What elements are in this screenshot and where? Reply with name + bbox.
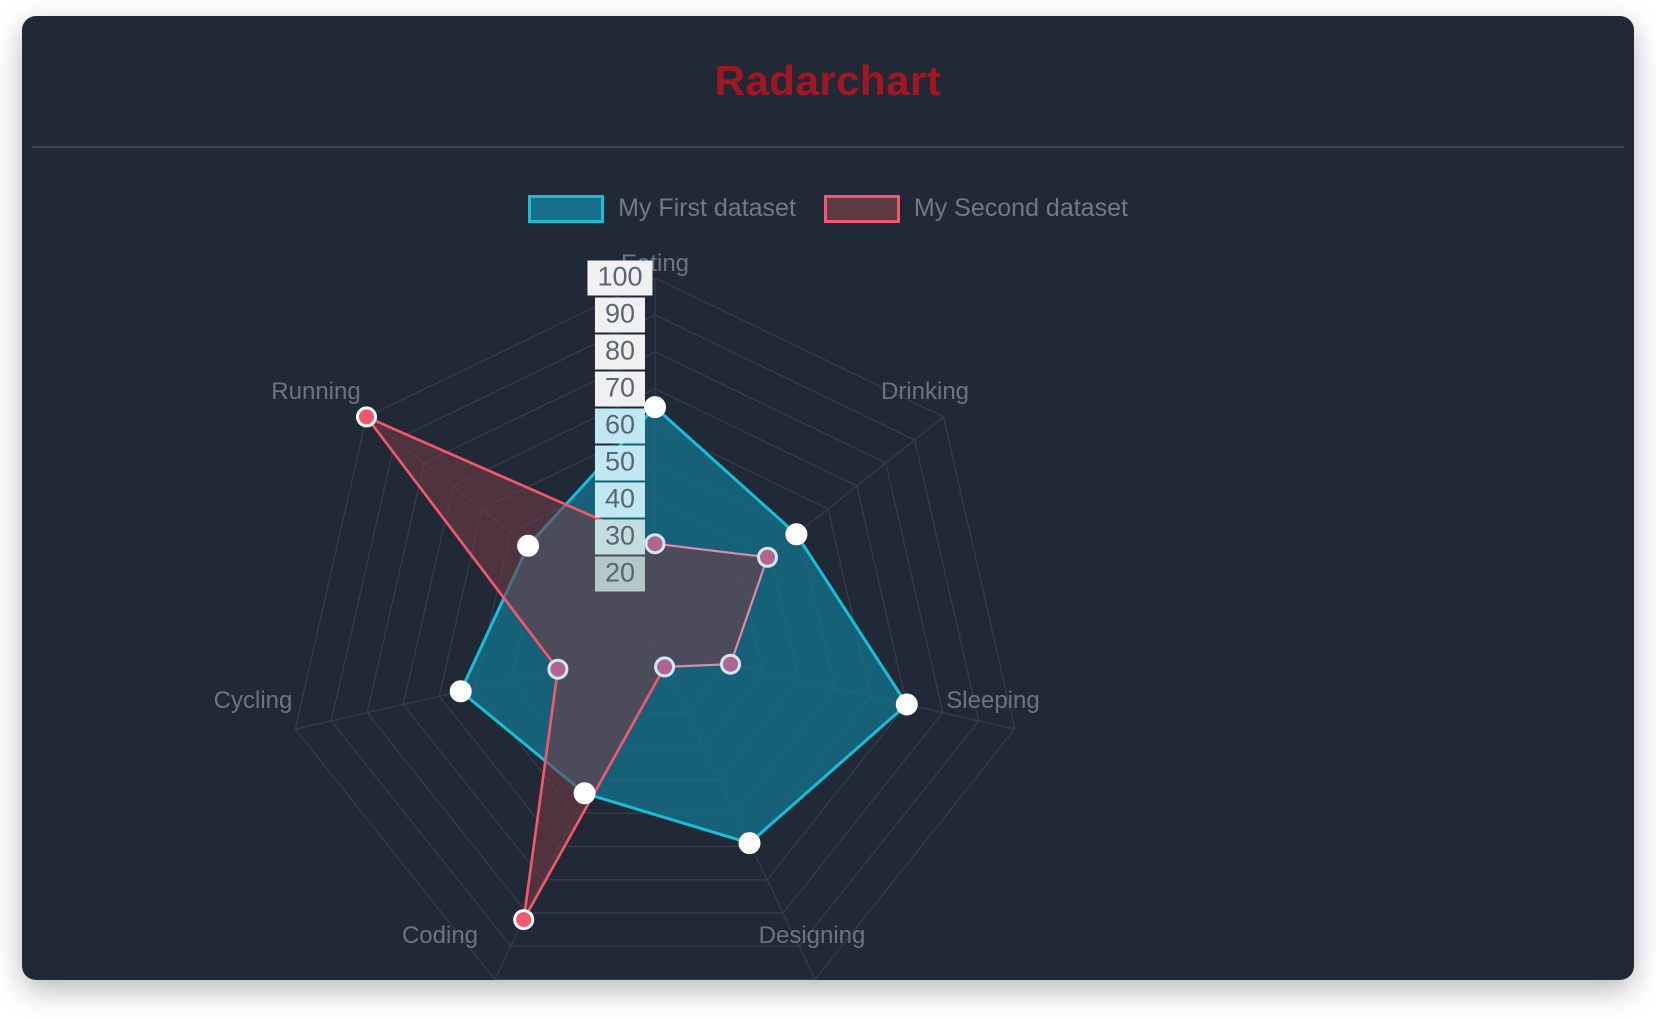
- chart-card: Radarchart My First dataset My Second da…: [22, 16, 1634, 980]
- tick-label-60: 60: [595, 409, 645, 444]
- tick-label-30: 30: [595, 520, 645, 555]
- axis-label-designing: Designing: [759, 922, 866, 950]
- tick-label-50: 50: [595, 446, 645, 481]
- radar-chart-canvas: [22, 16, 1634, 980]
- tick-label-40: 40: [595, 483, 645, 518]
- axis-label-drinking: Drinking: [881, 378, 969, 406]
- axis-label-sleeping: Sleeping: [946, 687, 1039, 715]
- tick-label-20: 20: [595, 557, 645, 592]
- tick-label-90: 90: [595, 298, 645, 333]
- tick-label-80: 80: [595, 335, 645, 370]
- axis-label-cycling: Cycling: [214, 687, 293, 715]
- tick-label-100: 100: [587, 261, 652, 296]
- tick-label-70: 70: [595, 372, 645, 407]
- axis-label-coding: Coding: [402, 922, 478, 950]
- axis-label-running: Running: [271, 378, 360, 406]
